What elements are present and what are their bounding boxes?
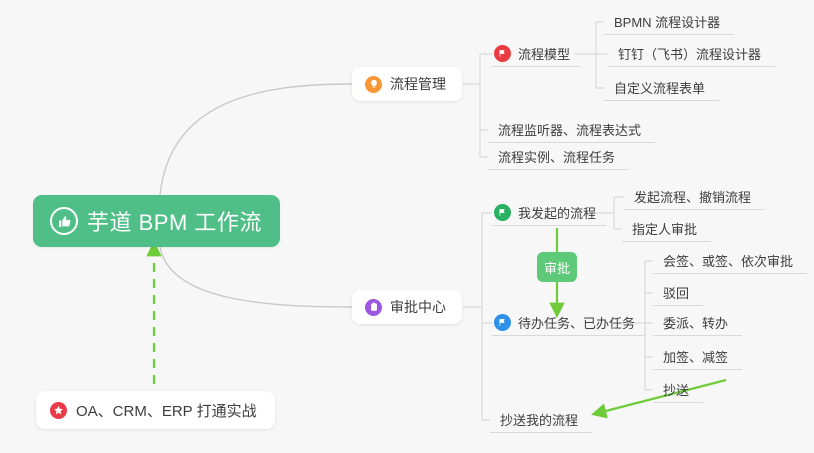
- node-my-initiated-process[interactable]: 我发起的流程: [492, 200, 606, 226]
- callout-label: 审批: [544, 258, 570, 277]
- leaf-instance-task[interactable]: 流程实例、流程任务: [488, 144, 629, 170]
- leaf-label: 抄送我的流程: [500, 410, 578, 432]
- mindmap-canvas: 芋道 BPM 工作流 流程管理 流程模型 BPMN 流程设计器 钉钉（飞书）流程…: [0, 0, 814, 453]
- leaf-dingtalk-feishu-designer[interactable]: 钉钉（飞书）流程设计器: [608, 41, 775, 67]
- leaf-label: 驳回: [663, 283, 689, 305]
- leaf-label: 指定人审批: [632, 219, 697, 241]
- link-root-to-approval-center: [160, 247, 352, 307]
- leaf-listener-expression[interactable]: 流程监听器、流程表达式: [488, 117, 655, 143]
- leaf-custom-form[interactable]: 自定义流程表单: [604, 75, 719, 101]
- leaf-label: 加签、减签: [663, 347, 728, 369]
- branch-label: 审批中心: [390, 297, 446, 317]
- flag-icon: [494, 314, 511, 331]
- clipboard-icon: [365, 299, 382, 316]
- leaf-label: 钉钉（飞书）流程设计器: [618, 44, 761, 66]
- root-label: 芋道 BPM 工作流: [87, 205, 262, 237]
- leaf-reject[interactable]: 驳回: [653, 280, 703, 306]
- node-label: 我发起的流程: [518, 203, 596, 222]
- node-label: 待办任务、已办任务: [518, 313, 635, 332]
- flag-icon: [494, 204, 511, 221]
- leaf-label: BPMN 流程设计器: [614, 12, 720, 34]
- flag-icon: [494, 45, 511, 62]
- leaf-label: 发起流程、撤销流程: [634, 187, 751, 209]
- thumbs-up-icon: [50, 207, 78, 235]
- lightbulb-icon: [365, 76, 382, 93]
- leaf-label: 流程监听器、流程表达式: [498, 120, 641, 142]
- leaf-cc-my-process[interactable]: 抄送我的流程: [490, 407, 592, 433]
- leaf-assignee-approval[interactable]: 指定人审批: [622, 216, 711, 242]
- leaf-start-cancel-process[interactable]: 发起流程、撤销流程: [624, 184, 765, 210]
- leaf-bpmn-designer[interactable]: BPMN 流程设计器: [604, 9, 734, 35]
- note-label: OA、CRM、ERP 打通实战: [76, 400, 257, 421]
- branch-process-management[interactable]: 流程管理: [352, 67, 462, 101]
- note-integration[interactable]: OA、CRM、ERP 打通实战: [36, 391, 275, 429]
- leaf-cc[interactable]: 抄送: [653, 377, 703, 403]
- leaf-label: 抄送: [663, 380, 689, 402]
- callout-approval: 审批: [537, 252, 577, 282]
- leaf-label: 自定义流程表单: [614, 78, 705, 100]
- node-process-model[interactable]: 流程模型: [492, 41, 580, 67]
- leaf-countersign[interactable]: 会签、或签、依次审批: [653, 248, 807, 274]
- leaf-add-remove-sign[interactable]: 加签、减签: [653, 344, 742, 370]
- branch-label: 流程管理: [390, 74, 446, 94]
- leaf-label: 委派、转办: [663, 313, 728, 335]
- branch-approval-center[interactable]: 审批中心: [352, 290, 462, 324]
- node-todo-done-tasks[interactable]: 待办任务、已办任务: [492, 310, 645, 336]
- node-label: 流程模型: [518, 44, 570, 63]
- root-node[interactable]: 芋道 BPM 工作流: [33, 195, 280, 247]
- leaf-label: 流程实例、流程任务: [498, 147, 615, 169]
- star-icon: [50, 402, 67, 419]
- leaf-delegate-transfer[interactable]: 委派、转办: [653, 310, 742, 336]
- leaf-label: 会签、或签、依次审批: [663, 251, 793, 273]
- link-root-to-process-management: [160, 84, 352, 195]
